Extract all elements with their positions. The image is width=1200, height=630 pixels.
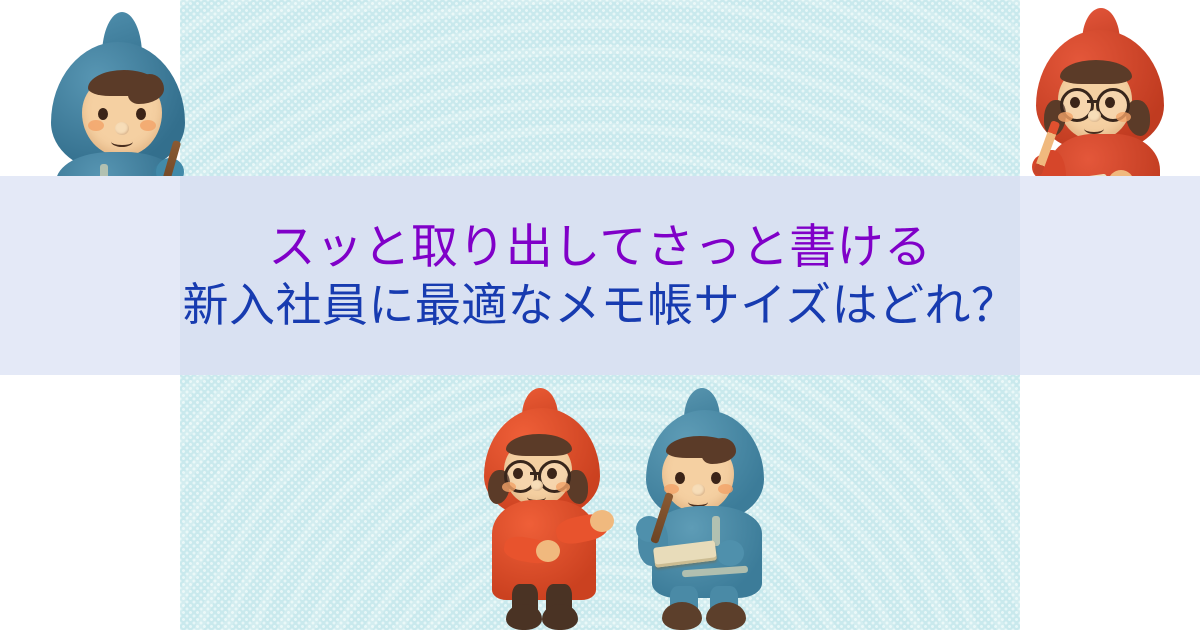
- nose-icon: [115, 122, 129, 135]
- headline-line-2: 新入社員に最適なメモ帳サイズはどれ？: [183, 281, 1018, 329]
- nose-icon: [1088, 110, 1101, 122]
- mouth-icon: [111, 136, 133, 147]
- clay-figure-blue-taking-notes: [640, 388, 780, 630]
- cheek-right: [1116, 112, 1131, 122]
- headline-text-block: スッと取り出してさっと書ける 新入社員に最適なメモ帳サイズはどれ？: [0, 176, 1200, 375]
- cheek-right: [140, 120, 156, 131]
- glasses-bridge-icon: [530, 472, 540, 475]
- glasses-bridge-icon: [1087, 100, 1098, 103]
- cheek-left: [1058, 112, 1073, 122]
- eye-left-icon: [1070, 97, 1080, 108]
- image-canvas: スッと取り出してさっと書ける 新入社員に最適なメモ帳サイズはどれ？: [0, 0, 1200, 630]
- boot-right: [706, 602, 746, 630]
- cheek-right: [556, 482, 570, 492]
- mouth-icon: [1084, 123, 1104, 134]
- eye-left-icon: [513, 468, 523, 479]
- eye-right-icon: [136, 108, 146, 120]
- eye-left-icon: [98, 108, 108, 120]
- eye-left-icon: [675, 472, 685, 484]
- eye-right-icon: [711, 472, 721, 484]
- nose-icon: [531, 480, 543, 491]
- nose-icon: [692, 484, 705, 496]
- clay-figure-red-glasses-pointing: [478, 388, 618, 630]
- cheek-left: [88, 120, 104, 131]
- boot-left: [662, 602, 702, 630]
- boot-left: [506, 604, 542, 630]
- cheek-right: [718, 484, 733, 494]
- hand-right: [716, 540, 744, 566]
- hand-pointing: [590, 510, 614, 532]
- eye-right-icon: [1105, 97, 1115, 108]
- cheek-left: [502, 482, 516, 492]
- headline-line-1: スッと取り出してさっと書ける: [268, 222, 931, 271]
- boot-right: [542, 604, 578, 630]
- eye-right-icon: [547, 468, 557, 479]
- hand-left: [536, 540, 560, 562]
